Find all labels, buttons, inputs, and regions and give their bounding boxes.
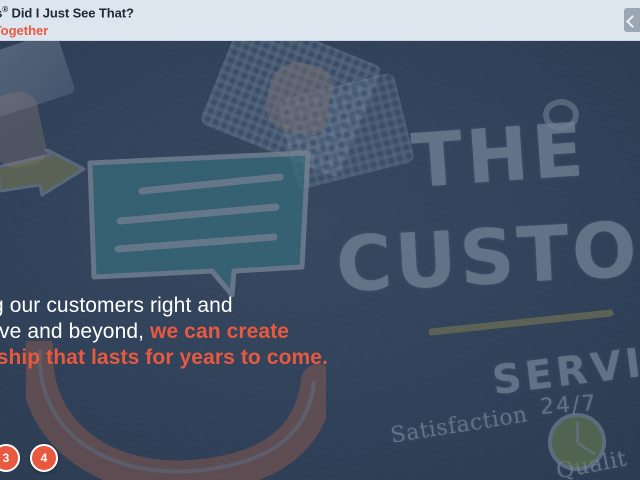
slide-viewport: Briefs® Did I Just See That? t All Toget…	[0, 0, 640, 480]
slide-copy-line-1: eating our customers right and	[0, 293, 366, 319]
page-header: Briefs® Did I Just See That? t All Toget…	[0, 0, 640, 41]
page-title: Briefs® Did I Just See That?	[0, 2, 134, 21]
header-text-block: Briefs® Did I Just See That? t All Toget…	[0, 2, 134, 39]
slide-tint-overlay	[0, 41, 640, 480]
slide-pagination: 2 3 4	[0, 444, 58, 472]
slide-copy-line-2-plain: g above and beyond,	[0, 320, 150, 343]
pagination-dot[interactable]: 3	[0, 444, 20, 472]
scroll-control-button[interactable]	[624, 8, 640, 32]
header-divider	[0, 40, 640, 41]
slide-copy-line-2-accent: we can create	[150, 320, 289, 343]
pagination-dot-active[interactable]: 4	[30, 444, 58, 472]
hero-slide: THE CUSTOME SERVIC 24/7 Satisfaction Qua…	[0, 41, 640, 480]
slide-copy-line-3: ationship that lasts for years to come.	[0, 345, 366, 371]
slide-copy: eating our customers right and g above a…	[0, 293, 366, 371]
page-title-rest: Did I Just See That?	[8, 5, 134, 20]
page-subtitle: t All Together	[0, 23, 134, 39]
slide-copy-line-2: g above and beyond, we can create	[0, 319, 366, 345]
